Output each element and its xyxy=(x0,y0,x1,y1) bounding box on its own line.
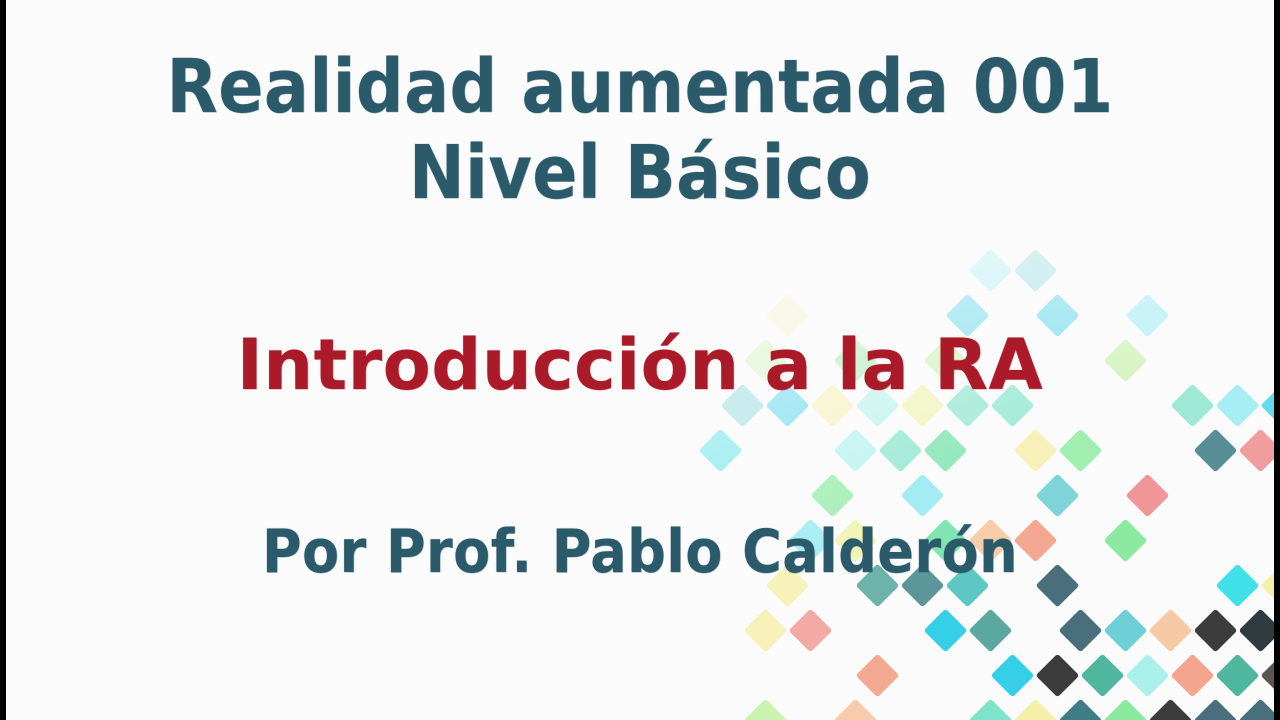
letterbox-bar-left xyxy=(0,0,6,720)
letterbox-bar-right xyxy=(1274,0,1280,720)
title-slide: Realidad aumentada 001 Nivel Básico Intr… xyxy=(0,0,1280,720)
slide-subtitle: Introducción a la RA xyxy=(237,330,1043,400)
page-title-line-1: Realidad aumentada 001 xyxy=(166,50,1113,124)
slide-content: Realidad aumentada 001 Nivel Básico Intr… xyxy=(0,0,1280,720)
page-title-line-2: Nivel Básico xyxy=(409,136,871,210)
slide-author: Por Prof. Pablo Calderón xyxy=(262,522,1018,582)
